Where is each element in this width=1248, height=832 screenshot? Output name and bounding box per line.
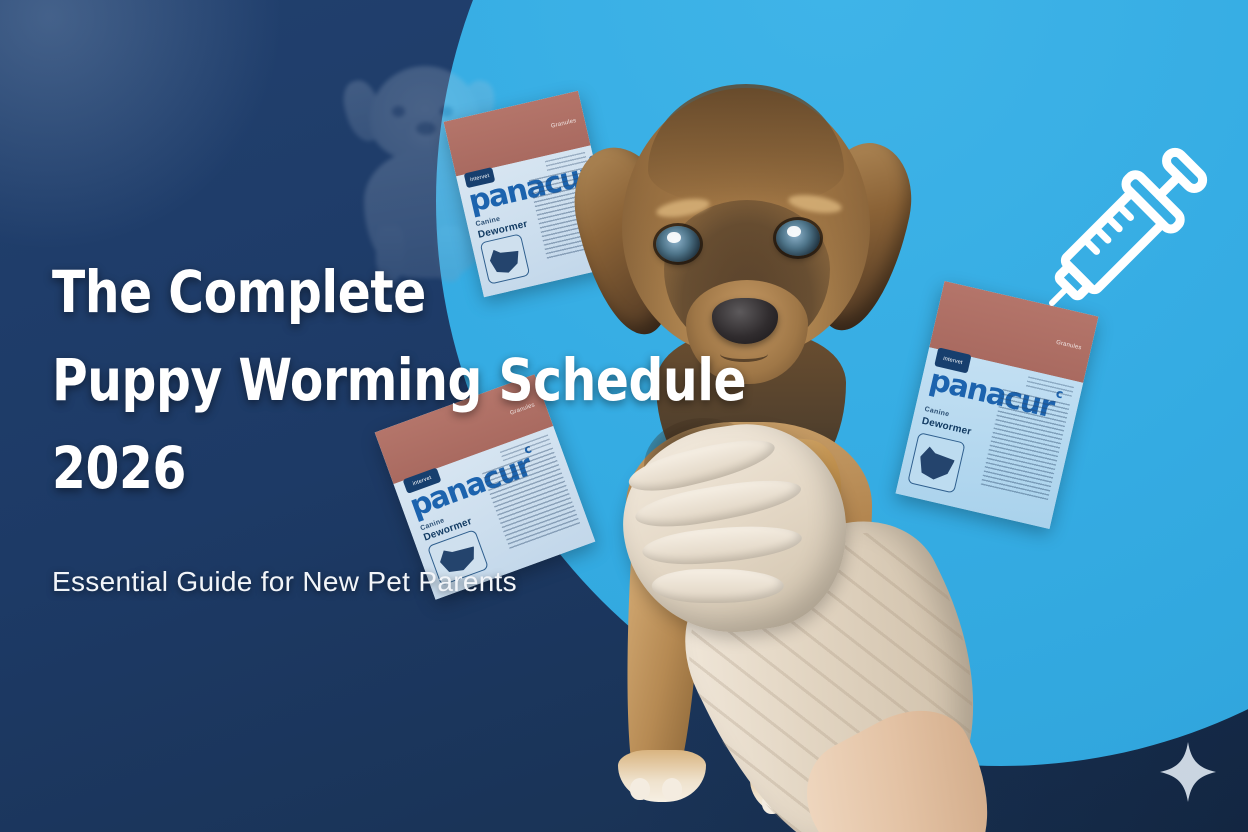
ghost-puppy-nose xyxy=(416,122,436,135)
glove-finger-3 xyxy=(641,521,803,569)
syringe-icon xyxy=(1022,128,1222,338)
headline-line-2: Puppy Worming Schedule xyxy=(52,336,606,424)
glove-finger-4 xyxy=(652,569,784,603)
puppy-head-dark-crown xyxy=(648,84,844,204)
ghost-puppy-eye-right xyxy=(440,106,453,117)
headline-line-1: The Complete xyxy=(52,248,606,336)
headline-line-3: 2026 xyxy=(52,424,606,512)
ghost-puppy-eye-left xyxy=(392,106,405,117)
subtitle-text: Essential Guide for New Pet Parents xyxy=(52,566,517,598)
puppy-eye-right xyxy=(776,220,820,256)
headline-block: The Complete Puppy Worming Schedule 2026 xyxy=(52,248,712,512)
puppy-paw-left xyxy=(618,750,706,802)
banner-root: Granules intervet panacurc Canine Deworm… xyxy=(0,0,1248,832)
sparkle-star-icon xyxy=(1158,740,1218,804)
